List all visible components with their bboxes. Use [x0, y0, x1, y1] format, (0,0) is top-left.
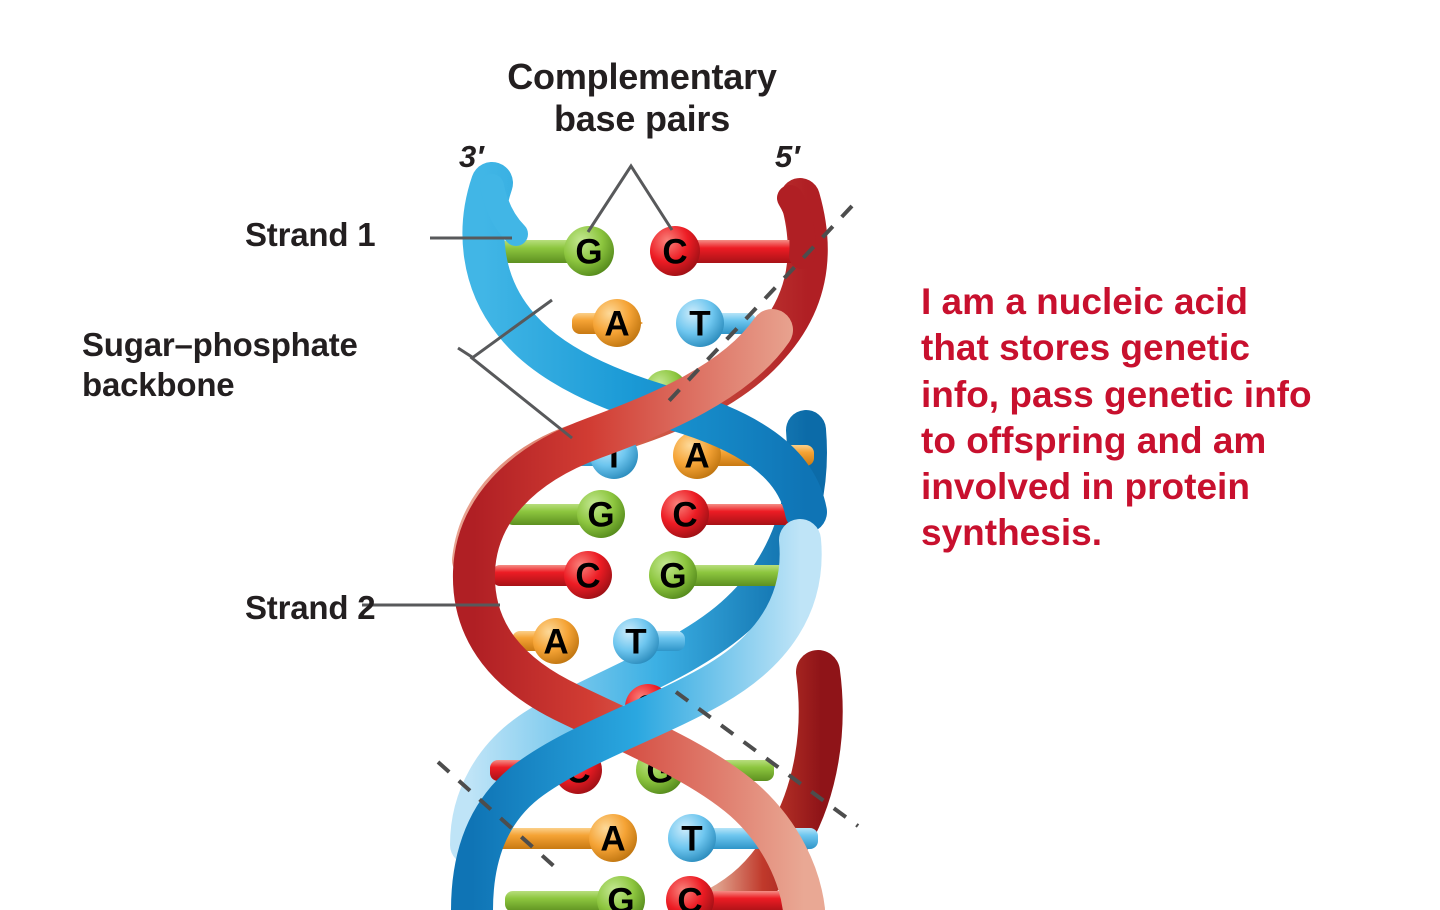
- svg-text:C: C: [575, 557, 600, 596]
- svg-text:C: C: [662, 233, 687, 272]
- base-pair-2: A T: [572, 299, 756, 347]
- end-label-3-prime: 3′: [459, 139, 484, 175]
- helix-pitch-guide-upper: [666, 206, 852, 404]
- svg-text:C: C: [677, 882, 702, 910]
- svg-text:T: T: [625, 623, 646, 662]
- svg-text:A: A: [604, 305, 629, 344]
- base-pair-3: [640, 370, 698, 414]
- base-pair-9: C G: [490, 746, 774, 794]
- svg-text:T: T: [689, 305, 710, 344]
- base-pair-7: A T: [512, 618, 685, 664]
- svg-text:A: A: [543, 623, 568, 662]
- svg-text:T: T: [603, 437, 624, 476]
- title-line-2: base pairs: [554, 98, 730, 139]
- pointer-complementary-base-pairs: [588, 166, 672, 232]
- bracket-sugar-phosphate: [472, 300, 572, 438]
- base-pair-10: A T: [478, 814, 818, 862]
- base-pair-rungs: G C A T: [478, 226, 818, 910]
- sugar-phosphate-line-2: backbone: [82, 366, 234, 403]
- annotation-note-text: I am a nucleic acid that stores genetic …: [921, 279, 1426, 557]
- svg-text:G: G: [575, 233, 602, 272]
- base-pair-4: T A: [562, 431, 814, 479]
- title-complementary-base-pairs: Complementarybase pairs: [472, 56, 812, 140]
- helix-pitch-guide-lower: [676, 692, 858, 826]
- svg-text:G: G: [607, 882, 634, 910]
- base-pair-5: G C: [505, 490, 807, 538]
- sugar-phosphate-line-1: Sugar–phosphate: [82, 326, 358, 363]
- note-line-4: to offspring and am: [921, 420, 1266, 461]
- svg-text:A: A: [684, 437, 709, 476]
- note-line-2: that stores genetic: [921, 327, 1250, 368]
- label-strand-2: Strand 2: [245, 591, 375, 626]
- title-line-1: Complementary: [507, 56, 776, 97]
- base-pair-11: G C: [505, 876, 805, 910]
- end-label-5-prime: 5′: [775, 139, 800, 175]
- svg-text:C: C: [672, 496, 697, 535]
- note-line-5: involved in protein: [921, 466, 1250, 507]
- label-strand-1: Strand 1: [245, 218, 375, 253]
- svg-text:C: C: [565, 752, 590, 791]
- note-line-6: synthesis.: [921, 512, 1102, 553]
- figure-canvas: G C A T: [0, 0, 1440, 910]
- svg-text:A: A: [600, 820, 625, 859]
- svg-text:G: G: [659, 557, 686, 596]
- base-pair-1: G C: [500, 226, 802, 276]
- helix-pitch-guide-lower-left: [438, 762, 556, 868]
- base-pair-8: C: [625, 684, 671, 730]
- svg-text:T: T: [681, 820, 702, 859]
- note-line-3: info, pass genetic info: [921, 374, 1312, 415]
- svg-text:C: C: [635, 689, 660, 728]
- svg-text:G: G: [587, 496, 614, 535]
- leader-line-sugar-phosphate: [458, 348, 472, 357]
- svg-text:G: G: [646, 752, 673, 791]
- label-sugar-phosphate-backbone: Sugar–phosphatebackbone: [82, 325, 358, 406]
- base-pair-6: C G: [492, 551, 791, 599]
- note-line-1: I am a nucleic acid: [921, 281, 1248, 322]
